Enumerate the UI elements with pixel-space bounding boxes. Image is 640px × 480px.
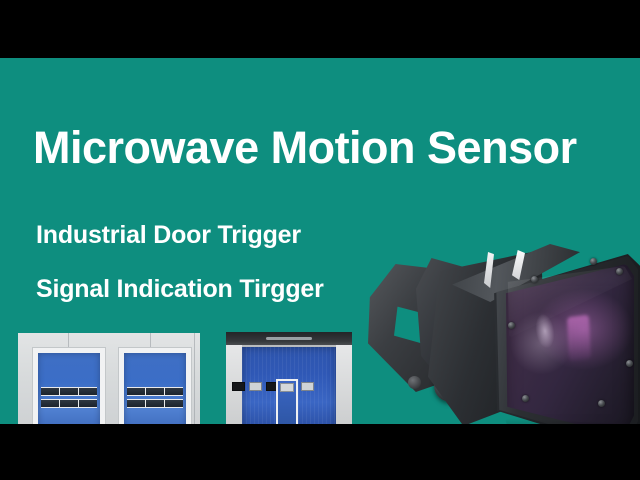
facade-seam — [194, 333, 195, 424]
bullet-industrial-door-trigger: Industrial Door Trigger — [36, 221, 301, 250]
video-frame: Microwave Motion Sensor Industrial Door … — [0, 0, 640, 480]
lens-purple-reflection — [567, 315, 591, 362]
door-window-row — [41, 387, 97, 396]
industrial-double-door-photo — [18, 333, 200, 424]
bezel-screw — [616, 268, 623, 275]
lintel-lamp — [266, 337, 311, 340]
bezel-screw — [598, 400, 605, 407]
bezel-screw — [531, 276, 538, 283]
door-window-row — [41, 399, 97, 408]
slide-title: Microwave Motion Sensor — [33, 124, 577, 171]
pedestrian-door — [276, 379, 298, 424]
door-window-row — [127, 387, 183, 396]
bezel-screw — [508, 322, 515, 329]
microwave-motion-sensor — [362, 240, 640, 424]
blue-door-left — [38, 353, 100, 424]
bullet-signal-indication-trigger: Signal Indication Tirgger — [36, 275, 324, 304]
slide-stage: Microwave Motion Sensor Industrial Door … — [0, 58, 640, 424]
door-window-row — [127, 399, 183, 408]
bezel-screw — [522, 395, 529, 402]
bezel-screw — [590, 258, 597, 265]
letterbox-bar-top — [0, 0, 640, 58]
bezel-screw — [626, 360, 633, 367]
bracket-bolt — [408, 376, 421, 389]
door-jamb-right — [336, 345, 352, 424]
door-panel-row — [232, 382, 314, 391]
pedestrian-door-window — [280, 383, 294, 392]
industrial-single-door-photo — [226, 332, 352, 424]
blue-door-right — [124, 353, 186, 424]
letterbox-bar-bottom — [0, 424, 640, 480]
